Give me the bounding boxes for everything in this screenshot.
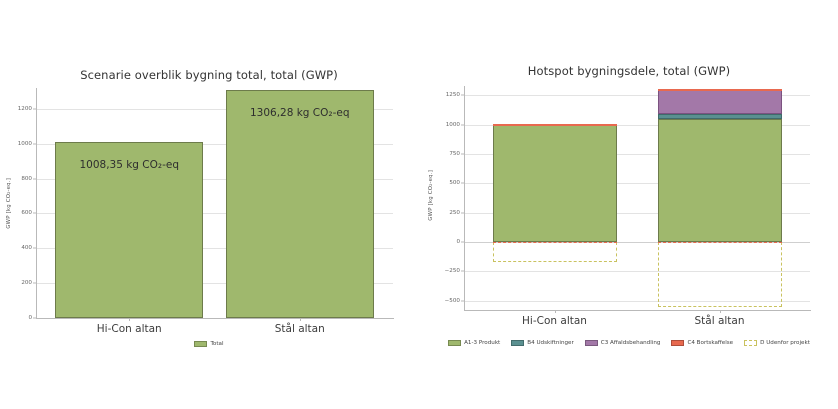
legend-swatch-icon [585, 340, 598, 346]
y-tick-label: 250 [434, 210, 460, 216]
stack-segment-c3-affaldsbehandling-1[interactable] [658, 89, 782, 114]
y-tick-mark [461, 212, 464, 213]
y-tick-label: 200 [8, 280, 32, 286]
x-tick-mark [300, 318, 301, 321]
y-tick-mark [33, 213, 36, 214]
y-tick-mark [461, 241, 464, 242]
y-tick-label: 0 [434, 239, 460, 245]
legend-item[interactable]: B4 Udskiftninger [511, 340, 574, 346]
y-tick-mark [461, 124, 464, 125]
legend-item[interactable]: Total [194, 341, 223, 347]
legend-swatch-icon [511, 340, 524, 346]
legend-label: C3 Affaldsbehandling [601, 340, 661, 346]
stack-segment-a1-3-produkt-1[interactable] [658, 119, 782, 242]
c4-bortskaffelse-line-1 [658, 242, 782, 243]
right-x-axis [464, 310, 811, 311]
stack-segment-b4-udskiftninger-1[interactable] [658, 114, 782, 119]
dashed-box-d-udenfor-projekt-0[interactable] [493, 242, 617, 262]
y-tick-label: −500 [434, 298, 460, 304]
x-tick-label: Stål altan [220, 323, 380, 335]
left-chart-title: Scenarie overblik bygning total, total (… [0, 68, 418, 82]
x-tick-mark [720, 310, 721, 313]
bar-total-1[interactable] [226, 90, 374, 318]
y-tick-mark [461, 271, 464, 272]
dual-chart-figure: Scenarie overblik bygning total, total (… [0, 0, 838, 409]
y-tick-label: 500 [434, 180, 460, 186]
y-tick-mark [461, 95, 464, 96]
y-tick-mark [461, 300, 464, 301]
left-y-axis [36, 88, 37, 319]
legend-swatch-icon [448, 340, 461, 346]
legend-label: A1-3 Produkt [464, 340, 500, 346]
y-tick-label: 1250 [434, 92, 460, 98]
legend-item[interactable]: C4 Bortskaffelse [671, 340, 733, 346]
dashed-box-d-udenfor-projekt-1[interactable] [658, 242, 782, 307]
x-tick-label: Hi-Con altan [475, 315, 635, 327]
bar-data-label: 1008,35 kg CO₂-eq [55, 159, 203, 171]
y-tick-label: −250 [434, 268, 460, 274]
x-tick-mark [129, 318, 130, 321]
right-chart-panel: Hotspot bygningsdele, total (GWP) GWP [k… [420, 0, 838, 409]
y-tick-mark [33, 108, 36, 109]
legend-item[interactable]: A1-3 Produkt [448, 340, 500, 346]
x-tick-label: Stål altan [640, 315, 800, 327]
y-tick-label: 750 [434, 151, 460, 157]
left-x-axis [36, 318, 394, 319]
c4-bortskaffelse-line-0 [493, 242, 617, 243]
y-tick-mark [33, 318, 36, 319]
legend-swatch-icon [194, 341, 207, 347]
legend-item[interactable]: C3 Affaldsbehandling [585, 340, 661, 346]
y-tick-label: 400 [8, 245, 32, 251]
y-tick-label: 1200 [8, 106, 32, 112]
y-tick-mark [33, 143, 36, 144]
legend-label: Total [210, 341, 223, 347]
y-tick-mark [461, 183, 464, 184]
y-tick-mark [33, 283, 36, 284]
legend-item[interactable]: D Udenfor projekt [744, 340, 810, 346]
left-chart-y-axis-label: GWP [kg CO₂-eq.] [6, 178, 12, 229]
x-tick-mark [555, 310, 556, 313]
stack-segment-c4-bortskaffelse-0[interactable] [493, 124, 617, 126]
y-tick-label: 1000 [8, 141, 32, 147]
y-tick-mark [33, 248, 36, 249]
y-tick-label: 0 [8, 315, 32, 321]
y-tick-label: 1000 [434, 122, 460, 128]
left-chart-panel: Scenarie overblik bygning total, total (… [0, 0, 418, 409]
y-tick-mark [33, 178, 36, 179]
right-chart-title: Hotspot bygningsdele, total (GWP) [420, 64, 838, 78]
legend-swatch-icon [671, 340, 684, 346]
left-chart-legend: Total [0, 341, 418, 347]
legend-label: C4 Bortskaffelse [687, 340, 733, 346]
y-tick-mark [461, 154, 464, 155]
y-tick-label: 600 [8, 210, 32, 216]
x-tick-label: Hi-Con altan [49, 323, 209, 335]
y-tick-label: 800 [8, 176, 32, 182]
right-chart-legend: A1-3 ProduktB4 UdskiftningerC3 Affaldsbe… [422, 340, 836, 346]
stack-segment-a1-3-produkt-0[interactable] [493, 125, 617, 242]
legend-label: D Udenfor projekt [760, 340, 810, 346]
bar-data-label: 1306,28 kg CO₂-eq [226, 107, 374, 119]
legend-swatch-icon [744, 340, 757, 346]
right-y-axis [464, 86, 465, 311]
stack-segment-c4-bortskaffelse-1[interactable] [658, 89, 782, 91]
legend-label: B4 Udskiftninger [527, 340, 574, 346]
